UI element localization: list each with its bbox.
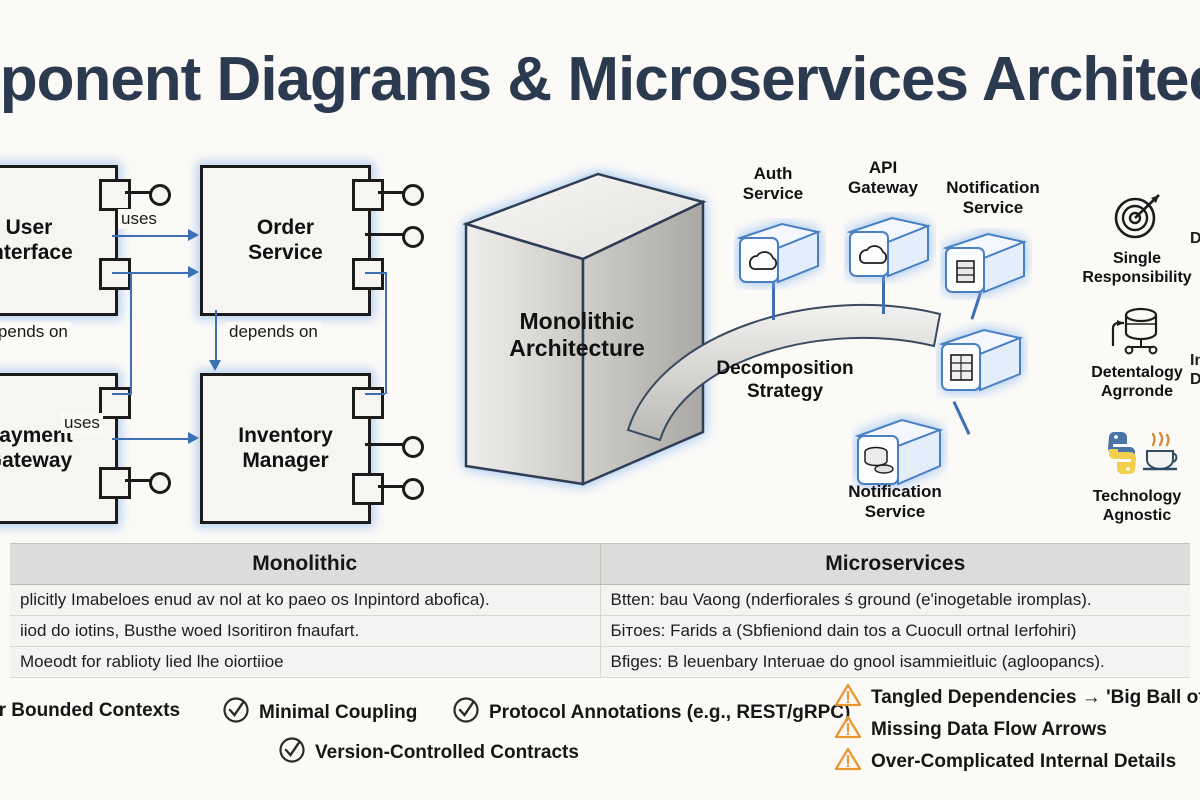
warning-label: Over-Complicated Internal Details <box>871 751 1176 773</box>
service-cube-notify-1[interactable] <box>940 228 1014 290</box>
principle-single-responsibility[interactable]: SingleResponsibility <box>1082 186 1192 288</box>
arrowhead-routed-into-order <box>188 266 199 278</box>
check-circle-icon <box>278 736 306 769</box>
service-label-notify-1: NotificationService <box>928 178 1058 217</box>
database-icon <box>852 412 948 492</box>
component-order-service[interactable]: Order Service <box>200 165 371 316</box>
checklist-label: Protocol Annotations (e.g., REST/gRPC) <box>489 702 850 724</box>
checklist-label: ar Bounded Contexts <box>0 700 180 722</box>
principle-label: SingleResponsibility <box>1082 250 1192 288</box>
arrowhead-uses-payment-inventory <box>188 432 199 444</box>
comparison-table: Monolithic Microservices plicitly Imabel… <box>10 543 1190 675</box>
warning-item-tangled-dependencies[interactable]: Tangled Dependencies → 'Big Ball of Mu <box>834 682 1200 713</box>
port-order-top <box>352 179 384 211</box>
database-icon <box>1082 300 1192 360</box>
edge-label-depends-2: depends on <box>226 322 321 342</box>
edge-label-uses-2: uses <box>61 413 103 433</box>
warning-triangle-icon <box>834 746 862 777</box>
check-circle-icon <box>222 696 250 729</box>
table-cell-monolithic: iiod do iotins, Busthe woed Isoritiron f… <box>10 616 601 646</box>
component-inventory-manager[interactable]: Inventory Manager <box>200 373 371 524</box>
lollipop-stem-order-1 <box>378 191 404 194</box>
warning-item-missing-data-flow[interactable]: Missing Data Flow Arrows <box>834 714 1107 745</box>
edge-routed-payment-h <box>112 393 132 395</box>
checklist-item-bounded-contexts[interactable]: ar Bounded Contexts <box>0 700 180 722</box>
infographic-canvas: Component Diagrams & Microservices Archi… <box>0 0 1200 800</box>
port-payment-top <box>99 387 131 419</box>
service-cube-gateway[interactable] <box>844 212 918 274</box>
uml-component-diagram: User Interface Order Service Payment Gat… <box>0 155 440 535</box>
table-header-monolithic: Monolithic <box>10 544 601 584</box>
edge-routed-ui-order-v <box>130 273 132 393</box>
provided-interface-payment <box>149 472 171 494</box>
cloud-icon <box>844 212 936 284</box>
checklist-label: Minimal Coupling <box>259 702 417 724</box>
warning-item-over-complicated[interactable]: Over-Complicated Internal Details <box>834 746 1176 777</box>
warning-label: Missing Data Flow Arrows <box>871 719 1107 741</box>
principle-technology-agnostic[interactable]: TechnologyAgnostic <box>1082 424 1192 526</box>
component-label: Order Service <box>248 216 323 264</box>
service-label-notify-2: NotificationService <box>830 482 960 521</box>
port-ui-top <box>99 179 131 211</box>
edge-depends-order-inventory <box>215 310 217 362</box>
table-row: iiod do iotins, Busthe woed Isoritiron f… <box>10 616 1190 647</box>
component-label: Inventory Manager <box>238 424 333 472</box>
port-ui-bottom <box>99 258 131 290</box>
table-header-row: Monolithic Microservices <box>10 543 1190 585</box>
python-java-icon <box>1082 424 1192 484</box>
service-cube-auth[interactable] <box>734 218 808 280</box>
lollipop-stem-payment <box>125 479 151 482</box>
page-title: Component Diagrams & Microservices Archi… <box>0 44 1200 115</box>
table-cell-monolithic: plicitly Imabeloes enud av nol at ko pae… <box>10 585 601 615</box>
warning-triangle-icon <box>834 714 862 745</box>
edge-routed-into-order <box>112 272 190 274</box>
port-inventory-top <box>352 387 384 419</box>
edge-label-depends-1: depends on <box>0 322 71 342</box>
port-payment-bottom <box>99 467 131 499</box>
table-cell-microservices: Bfiges: B leuenbary Interuae do gnool is… <box>601 647 1191 677</box>
port-order-bottom <box>352 258 384 290</box>
arrowhead-depends-order-inventory <box>209 360 221 371</box>
lollipop-stem-inv-2 <box>378 485 404 488</box>
check-circle-icon <box>452 696 480 729</box>
component-label: User Interface <box>0 216 73 264</box>
table-cell-microservices: Бітoes: Farids a (Sbfieniond dain tos a … <box>601 616 1191 646</box>
service-cube-server-rack[interactable] <box>936 322 1010 384</box>
principle-clipped-col-2: InD <box>1190 352 1200 390</box>
provided-interface-inv-1 <box>402 436 424 458</box>
server-icon <box>940 228 1032 300</box>
lollipop-stem-order-2 <box>365 233 404 236</box>
server-rack-icon <box>936 322 1028 398</box>
lollipop-stem-ui <box>125 191 151 194</box>
table-row: Moeodt for rablioty lied lhe oiortiioe B… <box>10 647 1190 678</box>
edge-uses-payment-inventory <box>112 438 190 440</box>
edge-routed-right-inv-h <box>365 393 385 395</box>
target-icon <box>1082 186 1192 246</box>
arrowhead-uses-ui-order <box>188 229 199 241</box>
lollipop-stem-inv-1 <box>365 443 404 446</box>
provided-interface-ui <box>149 184 171 206</box>
edge-label-uses-1: uses <box>118 209 160 229</box>
principle-label: TechnologyAgnostic <box>1082 488 1192 526</box>
warning-label: Tangled Dependencies → 'Big Ball of Mu <box>871 687 1200 709</box>
edge-uses-ui-order <box>112 235 190 237</box>
table-header-microservices: Microservices <box>601 544 1191 584</box>
warning-triangle-icon <box>834 682 862 713</box>
cloud-icon <box>734 218 826 290</box>
decomposition-label: Decomposition Strategy <box>700 358 870 404</box>
checklist-item-version-controlled[interactable]: Version-Controlled Contracts <box>278 736 579 769</box>
provided-interface-order-2 <box>402 226 424 248</box>
table-row: plicitly Imabeloes enud av nol at ko pae… <box>10 585 1190 616</box>
table-cell-monolithic: Moeodt for rablioty lied lhe oiortiioe <box>10 647 601 677</box>
principle-clipped-col-1: D <box>1190 230 1200 248</box>
principle-label: DetentalogyAgrronde <box>1082 364 1192 402</box>
checklist-item-protocol-annotations[interactable]: Protocol Annotations (e.g., REST/gRPC) <box>452 696 850 729</box>
provided-interface-order-1 <box>402 184 424 206</box>
table-cell-microservices: Btten: bau Vaong (nderfiorales ś ground … <box>601 585 1191 615</box>
principle-data-autonomy[interactable]: DetentalogyAgrronde <box>1082 300 1192 402</box>
edge-routed-right-order <box>385 272 387 394</box>
bottom-legend: ar Bounded Contexts Minimal Coupling Pro… <box>0 686 1200 786</box>
checklist-label: Version-Controlled Contracts <box>315 742 579 764</box>
port-inventory-bottom <box>352 473 384 505</box>
checklist-item-minimal-coupling[interactable]: Minimal Coupling <box>222 696 417 729</box>
provided-interface-inv-2 <box>402 478 424 500</box>
edge-routed-right-order-h <box>365 272 385 274</box>
service-cube-notify-2[interactable] <box>852 412 926 474</box>
